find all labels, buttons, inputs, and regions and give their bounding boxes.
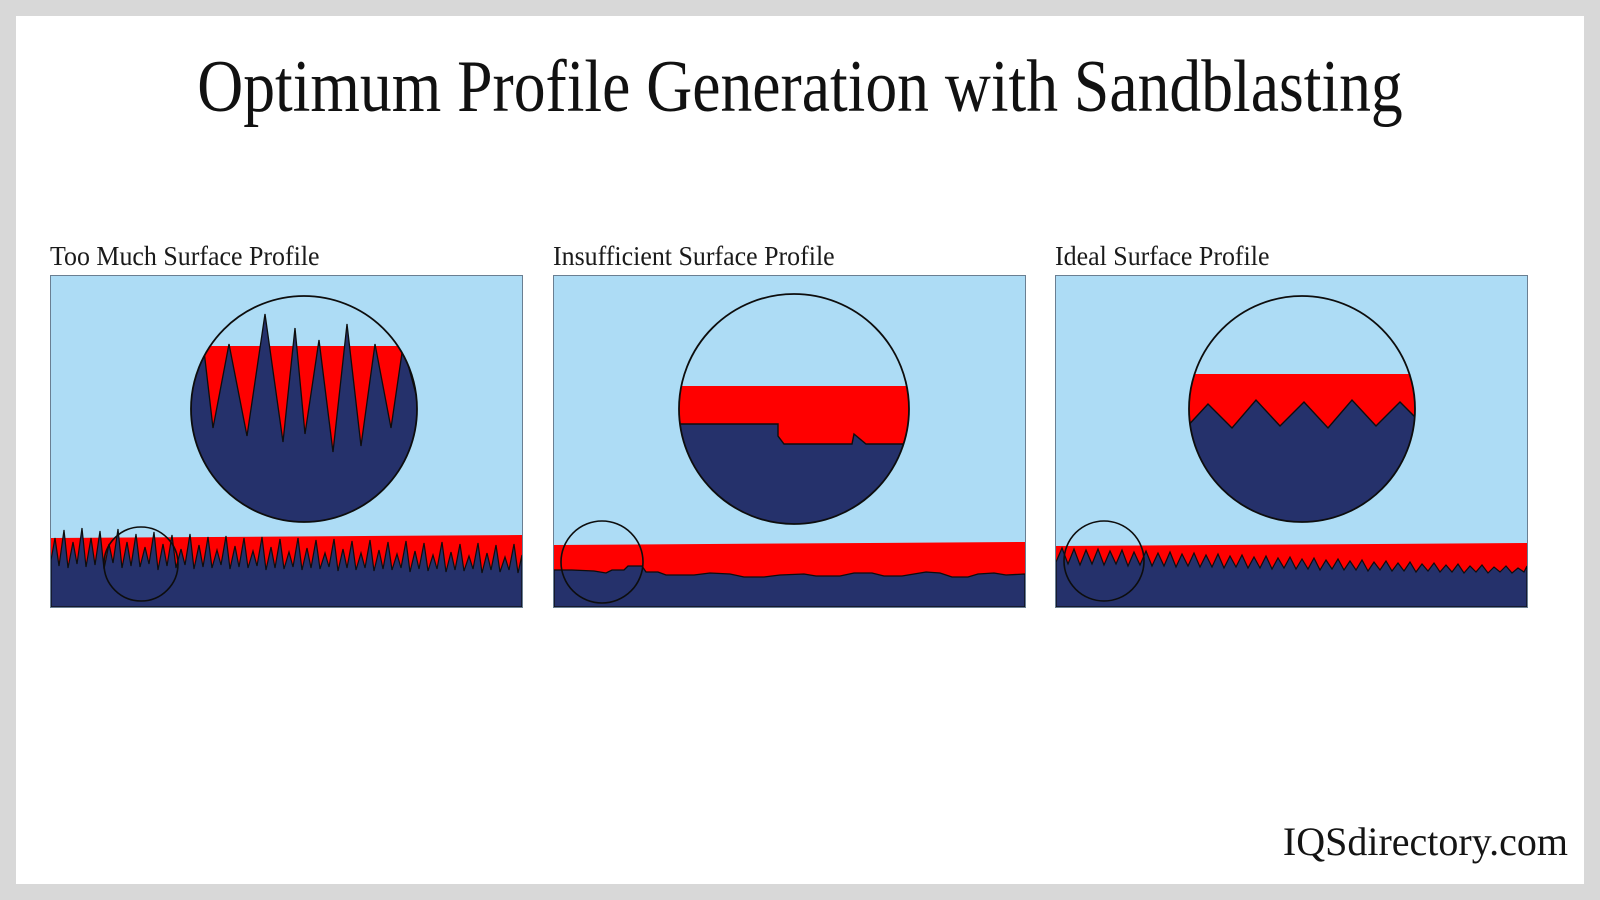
poster-root: Optimum Profile Generation with Sandblas… bbox=[0, 0, 1600, 900]
panel-too-much-surface-profile: Too Much Surface Profile bbox=[50, 275, 523, 608]
panel-insufficient-surface-profile: Insufficient Surface Profile bbox=[553, 275, 1026, 608]
magnifier-detail bbox=[191, 296, 417, 522]
panel-label-too-much: Too Much Surface Profile bbox=[50, 241, 320, 271]
page-title: Optimum Profile Generation with Sandblas… bbox=[126, 44, 1474, 130]
panel-ideal-surface-profile: Ideal Surface Profile bbox=[1055, 275, 1528, 608]
macro-surface bbox=[554, 542, 1025, 607]
figure-insufficient-surface-profile bbox=[553, 275, 1026, 608]
poster-canvas: Optimum Profile Generation with Sandblas… bbox=[16, 16, 1584, 884]
figure-ideal-surface-profile bbox=[1055, 275, 1528, 608]
figure-too-much-surface-profile bbox=[50, 275, 523, 608]
panel-label-ideal: Ideal Surface Profile bbox=[1055, 241, 1269, 271]
panel-label-insufficient: Insufficient Surface Profile bbox=[553, 241, 835, 271]
macro-surface bbox=[1056, 543, 1527, 607]
watermark-iqsdirectory: IQSdirectory.com bbox=[1283, 820, 1568, 864]
